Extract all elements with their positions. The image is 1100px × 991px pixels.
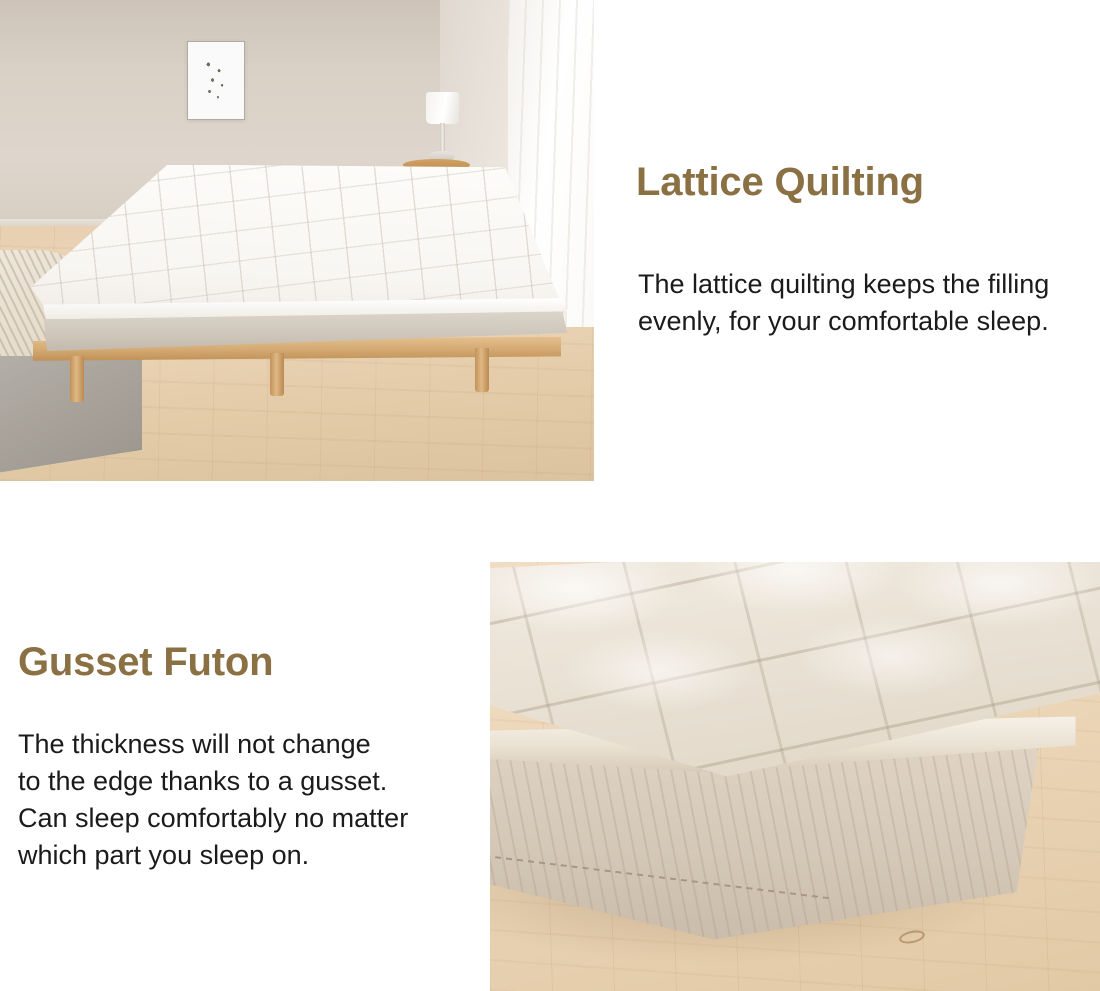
bed-frame-leg	[70, 356, 84, 402]
infographic-page: Lattice Quilting The lattice quilting ke…	[0, 0, 1100, 991]
section-body-lattice-quilting: The lattice quilting keeps the filling e…	[638, 266, 1100, 340]
lamp-shade	[426, 92, 458, 124]
section-heading-lattice-quilting: Lattice Quilting	[636, 160, 924, 205]
framed-wall-art	[187, 41, 245, 120]
gusset-closeup-photo	[490, 562, 1100, 991]
bedroom-futon-photo	[0, 0, 594, 481]
section-heading-gusset-futon: Gusset Futon	[18, 640, 273, 685]
bed-frame-leg	[270, 353, 284, 396]
bed-frame-leg	[475, 348, 489, 391]
gusset-stitch-line	[490, 855, 830, 899]
section-body-gusset-futon: The thickness will not change to the edg…	[18, 726, 488, 874]
